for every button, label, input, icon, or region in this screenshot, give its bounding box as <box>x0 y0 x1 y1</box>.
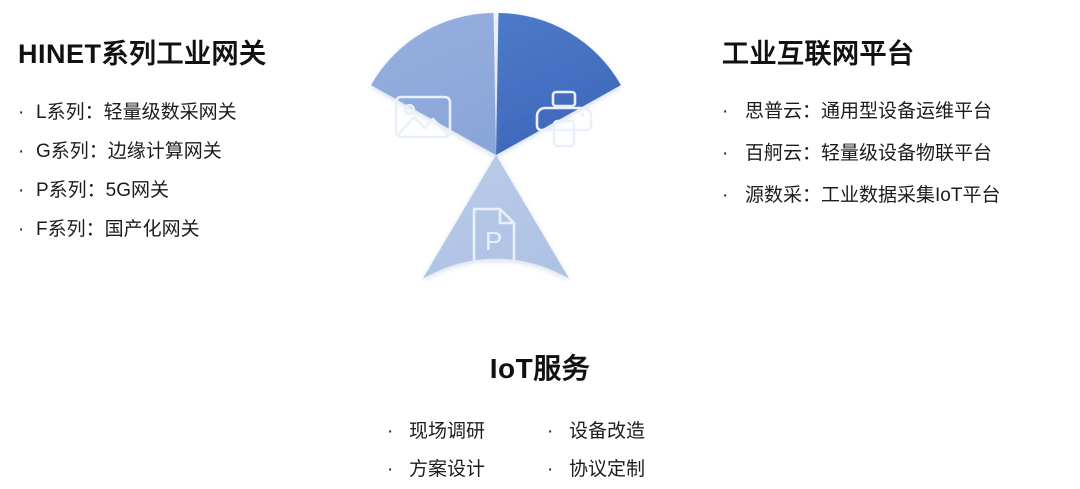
bullet-dot-icon: · <box>18 171 36 210</box>
iot-service-panel: IoT服务 · 现场调研 · 方案设计 · 设备改造 · 协议定制 <box>0 328 1080 489</box>
list-item-label: 现场调研 <box>409 413 485 451</box>
list-item: · G系列：边缘计算网关 <box>18 132 348 171</box>
list-item-label: 方案设计 <box>409 451 485 489</box>
industrial-internet-platform-panel: 工业互联网平台 · 思普云：通用型设备运维平台 · 百舸云：轻量级设备物联平台 … <box>722 14 1072 217</box>
hinet-gateway-panel: HINET系列工业网关 · L系列：轻量级数采网关 · G系列：边缘计算网关 ·… <box>18 14 348 249</box>
bullet-dot-icon: · <box>547 451 569 489</box>
list-item: · 现场调研 <box>387 413 547 451</box>
list-item: · P系列：5G网关 <box>18 171 348 210</box>
services-pie-chart: P <box>351 10 641 300</box>
bullet-dot-icon: · <box>547 413 569 451</box>
list-item: · 方案设计 <box>387 451 547 489</box>
list-item-label: 源数采：工业数据采集IoT平台 <box>745 175 1000 217</box>
list-item-label: 思普云：通用型设备运维平台 <box>745 91 992 133</box>
hinet-gateway-list: · L系列：轻量级数采网关 · G系列：边缘计算网关 · P系列：5G网关 · … <box>18 93 348 249</box>
bullet-dot-icon: · <box>722 91 745 133</box>
pie-chart-svg <box>351 10 641 300</box>
list-item-label: L系列：轻量级数采网关 <box>36 93 237 132</box>
list-item: · 思普云：通用型设备运维平台 <box>722 91 1072 133</box>
list-item-label: 百舸云：轻量级设备物联平台 <box>745 133 992 175</box>
bullet-dot-icon: · <box>387 451 409 489</box>
list-item-label: F系列：国产化网关 <box>36 210 200 249</box>
list-item: · L系列：轻量级数采网关 <box>18 93 348 132</box>
page-title-left: HINET系列工业网关 <box>18 32 348 71</box>
pie-segment-image <box>371 13 496 155</box>
page-title-bottom: IoT服务 <box>0 347 1080 387</box>
list-item: · 协议定制 <box>547 451 707 489</box>
list-item: · 设备改造 <box>547 413 707 451</box>
iot-service-column-right: · 设备改造 · 协议定制 <box>547 413 707 489</box>
list-item: · 源数采：工业数据采集IoT平台 <box>722 175 1072 217</box>
iot-service-grid: · 现场调研 · 方案设计 · 设备改造 · 协议定制 <box>0 413 1080 489</box>
bullet-dot-icon: · <box>18 93 36 132</box>
bullet-dot-icon: · <box>18 210 36 249</box>
bullet-dot-icon: · <box>722 175 745 217</box>
list-item-label: 设备改造 <box>569 413 645 451</box>
list-item-label: 协议定制 <box>569 451 645 489</box>
list-item: · F系列：国产化网关 <box>18 210 348 249</box>
pie-segment-printer <box>496 13 621 155</box>
bullet-dot-icon: · <box>387 413 409 451</box>
bullet-dot-icon: · <box>722 133 745 175</box>
bullet-dot-icon: · <box>18 132 36 171</box>
iot-service-column-left: · 现场调研 · 方案设计 <box>387 413 547 489</box>
list-item-label: G系列：边缘计算网关 <box>36 132 222 171</box>
list-item: · 百舸云：轻量级设备物联平台 <box>722 133 1072 175</box>
pie-segment-document <box>423 155 569 279</box>
page-title-right: 工业互联网平台 <box>722 32 1072 71</box>
list-item-label: P系列：5G网关 <box>36 171 169 210</box>
platform-list: · 思普云：通用型设备运维平台 · 百舸云：轻量级设备物联平台 · 源数采：工业… <box>722 91 1072 217</box>
